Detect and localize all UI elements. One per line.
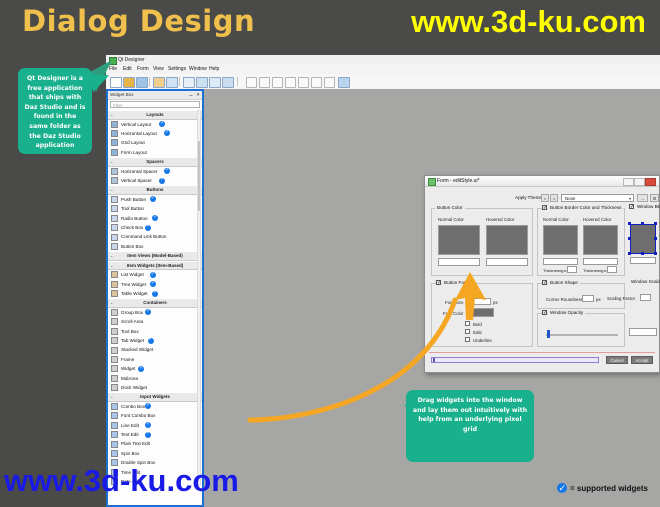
bold-label: Bold	[473, 322, 482, 328]
button-color-normal-label: Normal Color	[438, 217, 464, 223]
widget-type-icon	[111, 290, 118, 297]
widget-type-icon	[111, 347, 118, 354]
callout-drag-widgets: Drag widgets into the window and lay the…	[406, 390, 534, 462]
break-layout-icon[interactable]	[324, 77, 335, 88]
widget-list-item[interactable]: Plain Text Edit	[108, 439, 202, 448]
save-form-icon[interactable]	[136, 77, 148, 88]
underline-label: Underline	[473, 338, 492, 344]
cancel-button[interactable]: Cancel	[606, 356, 628, 364]
widget-group-label: Item Views (Model-Based)	[108, 252, 202, 260]
menu-edit[interactable]: Edit	[123, 66, 132, 73]
open-form-icon[interactable]	[123, 77, 135, 88]
widget-list-item-label: Frame	[121, 355, 134, 364]
button-shape-title: Button Shape	[548, 279, 580, 287]
theme-import-button[interactable]: ↔	[637, 194, 648, 202]
selection-handle-bl[interactable]	[628, 252, 631, 255]
supported-check-icon	[148, 338, 154, 344]
widget-list-item[interactable]: Form Layout	[108, 148, 202, 157]
minimize-button[interactable]	[623, 178, 634, 186]
widget-list-item[interactable]: MdiArea	[108, 374, 202, 383]
window-bkg-title: Window Bkg Color	[635, 203, 660, 211]
widget-type-icon	[111, 243, 118, 250]
button-color-group: Button Color Normal Color Hovered Color	[431, 208, 533, 276]
selection-handle-tl[interactable]	[628, 222, 631, 225]
widget-type-icon	[111, 196, 118, 203]
widget-list-item-label: Tool Button	[121, 204, 144, 213]
layout-splitter-h-icon[interactable]	[272, 77, 283, 88]
supported-check-icon	[152, 215, 158, 221]
supported-check-icon	[150, 196, 156, 202]
widget-list-item[interactable]: Frame	[108, 355, 202, 364]
maximize-button[interactable]	[634, 178, 645, 186]
menu-settings[interactable]: Settings	[168, 66, 186, 73]
window-opacity-group: Window Opacity	[537, 313, 625, 347]
widget-list-item-label: Scroll Area	[121, 317, 143, 326]
qt-designer-toolbar	[106, 74, 660, 90]
underline-checkbox[interactable]	[465, 337, 470, 342]
widget-box-scrollbar[interactable]	[197, 110, 201, 486]
selection-handle-tc[interactable]	[641, 222, 644, 225]
widget-list-item-label: Horizontal Spacer	[121, 167, 158, 176]
edit-signals-icon[interactable]	[196, 77, 208, 88]
toolbar-separator-3	[237, 77, 238, 86]
button-color-hovered-label: Hovered Color	[486, 217, 514, 223]
layout-grid-icon[interactable]	[298, 77, 309, 88]
page-banner: Dialog Design www.3d-ku.com	[0, 0, 660, 48]
widget-group-header[interactable]: ⌄Input Widgets	[108, 392, 202, 402]
widget-group-label: Layouts	[108, 111, 202, 119]
toolbar-separator-2	[179, 77, 180, 86]
button-shape-checkbox[interactable]	[542, 280, 547, 285]
widget-box-filter-input[interactable]: Filter	[110, 101, 200, 108]
check-circle-icon	[557, 483, 567, 493]
widget-group-header[interactable]: ⌄Item Widgets (Item-Based)	[108, 261, 202, 271]
window-opacity-title: Window Opacity	[548, 309, 585, 317]
widget-list-item-label: Grid Layout	[121, 138, 145, 147]
legend-text: = supported widgets	[570, 484, 648, 493]
widget-type-icon	[111, 139, 118, 146]
widget-group-label: Input Widgets	[108, 393, 202, 401]
apply-theme-label: Apply Theme	[515, 193, 542, 203]
button-normal-color-swatch[interactable]	[438, 225, 480, 255]
bottom-website-watermark: www.3d-ku.com	[4, 463, 239, 499]
widget-type-icon	[111, 168, 118, 175]
supported-check-icon	[145, 309, 151, 315]
theme-combo-box[interactable]: None ▾	[561, 194, 634, 202]
undo-icon[interactable]	[153, 77, 165, 88]
bottom-scrollbar-handle[interactable]	[433, 358, 435, 362]
font-color-swatch[interactable]	[469, 308, 494, 317]
legend: = supported widgets	[557, 483, 648, 493]
widget-type-icon	[111, 130, 118, 137]
widget-list-item-label: Table Widget	[121, 289, 148, 298]
theme-combo-value: None	[565, 195, 576, 203]
supported-check-icon	[150, 281, 156, 287]
widget-list-item-label: Tool Box	[121, 327, 139, 336]
bold-checkbox[interactable]	[465, 321, 470, 326]
border-hovered-label: Hovered Color	[583, 217, 611, 223]
supported-check-icon	[164, 130, 170, 136]
layout-vertical-icon[interactable]	[259, 77, 270, 88]
widget-list-item-label: Horizontal Layout	[121, 129, 157, 138]
window-opacity-checkbox[interactable]	[542, 310, 547, 315]
bottom-scrollbar[interactable]	[431, 357, 599, 363]
widget-group-label: Item Widgets (Item-Based)	[108, 262, 202, 270]
corner-roundness-input[interactable]	[582, 295, 594, 302]
callout-drag-widgets-text: Drag widgets into the window and lay the…	[406, 390, 534, 440]
widget-group-header[interactable]: ⌄Spacers	[108, 157, 202, 167]
border-normal-color-swatch[interactable]	[543, 225, 578, 255]
widget-list-item[interactable]: Text Edit	[108, 430, 202, 439]
widget-type-icon	[111, 412, 118, 419]
button-font-group: Button Font Font Size px Font Color Bold…	[431, 283, 533, 347]
selection-handle-ml[interactable]	[628, 237, 631, 240]
widget-group-label: Buttons	[108, 186, 202, 194]
widget-list-item[interactable]: Group Box	[108, 308, 202, 317]
widget-type-icon	[111, 281, 118, 288]
layout-splitter-v-icon[interactable]	[285, 77, 296, 88]
font-size-combo[interactable]	[469, 298, 491, 305]
layout-horizontal-icon[interactable]	[246, 77, 257, 88]
widget-type-icon	[111, 318, 118, 325]
widget-list-item-label: Spin Box	[121, 449, 139, 458]
widget-list-item[interactable]: Scroll Area	[108, 317, 202, 326]
widget-type-icon	[111, 205, 118, 212]
adjust-size-icon[interactable]	[338, 77, 350, 88]
menu-help[interactable]: Help	[209, 66, 219, 73]
widget-list-item[interactable]: Spin Box	[108, 449, 202, 458]
supported-check-icon	[145, 403, 151, 409]
button-color-title: Button Color	[435, 204, 465, 212]
thickness-label-1: Thickness(px)	[543, 268, 568, 274]
widget-list-item[interactable]: Font Combo Box	[108, 411, 202, 420]
widget-group-header[interactable]: ⌄Containers	[108, 298, 202, 308]
form-dialog-titlebar: Form - editStyle.ui*	[425, 176, 659, 187]
layout-form-icon[interactable]	[311, 77, 322, 88]
selection-handle-bc[interactable]	[641, 252, 644, 255]
widget-list-item-label: Line Edit	[121, 421, 139, 430]
form-divider	[429, 352, 655, 353]
close-button[interactable]	[645, 178, 656, 186]
widget-list-item-label: Button Box	[121, 242, 143, 251]
widget-list-item[interactable]: Button Box	[108, 242, 202, 251]
widget-type-icon	[111, 441, 118, 448]
widget-type-icon	[111, 431, 118, 438]
pin-icon[interactable]: ⚊	[189, 91, 193, 99]
border-normal-color-input[interactable]	[543, 258, 578, 265]
widget-list-item-label: Command Link Button	[121, 232, 166, 241]
widget-list-item-label: Form Layout	[121, 148, 147, 157]
thickness-label-2: Thickness(px)	[583, 268, 608, 274]
form-dialog-title: Form - editStyle.ui*	[437, 176, 480, 186]
selection-handle-mr[interactable]	[654, 237, 657, 240]
window-bkg-checkbox[interactable]	[629, 204, 634, 209]
widget-type-icon	[111, 271, 118, 278]
widget-list-item[interactable]: Combo Box	[108, 402, 202, 411]
widget-list-item-label: Vertical Spacer	[121, 176, 152, 185]
widget-list-item[interactable]: Command Link Button	[108, 232, 202, 241]
form-dialog-bottom-bar: Cancel Accept	[429, 354, 655, 366]
widget-box-list[interactable]: ⌄LayoutsVertical LayoutHorizontal Layout…	[108, 110, 202, 486]
window-scaling-title: Window Scaling	[629, 278, 660, 286]
widget-list-item[interactable]: Grid Layout	[108, 138, 202, 147]
widget-list-item-label: Check Box	[121, 223, 143, 232]
window-bkg-color-swatch[interactable]	[630, 224, 656, 254]
font-size-unit: px	[493, 300, 498, 306]
thickness-input-1[interactable]	[567, 266, 577, 273]
button-font-checkbox[interactable]	[436, 280, 441, 285]
widget-type-icon	[111, 328, 118, 335]
widget-list-item-label: MdiArea	[121, 374, 138, 383]
callout-qt-designer-info-text: Qt Designer is a free application that s…	[18, 68, 92, 157]
widget-type-icon	[111, 337, 118, 344]
form-dialog-body: Apply Theme < > None ▾ ↔ ☰ Button Color …	[429, 189, 655, 368]
widget-list-item-label: Stacked Widget	[121, 345, 153, 354]
widget-type-icon	[111, 403, 118, 410]
window-opacity-slider[interactable]	[546, 334, 618, 336]
button-border-title: Button Border Color and Thickness	[548, 204, 623, 212]
edit-tab-order-icon[interactable]	[222, 77, 234, 88]
widget-list-item-label: Vertical Layout	[121, 120, 151, 129]
form-window-icon	[428, 178, 436, 186]
supported-check-icon	[145, 422, 151, 428]
widget-list-item-label: Dock Widget	[121, 383, 147, 392]
supported-check-icon	[159, 121, 165, 127]
supported-check-icon	[159, 178, 165, 184]
widget-type-icon	[111, 215, 118, 222]
qt-designer-window: Qt Designer File Edit Form View Settings…	[106, 55, 660, 507]
page-title: Dialog Design	[22, 4, 255, 38]
accept-button[interactable]: Accept	[631, 356, 653, 364]
widget-list-item[interactable]: Tab Widget	[108, 336, 202, 345]
window-opacity-value-input[interactable]	[629, 328, 657, 336]
theme-prev-button[interactable]: <	[541, 194, 549, 202]
widget-list-item[interactable]: Widget	[108, 364, 202, 373]
qt-logo-icon	[109, 57, 117, 65]
widget-group-header[interactable]: ⌄Buttons	[108, 185, 202, 195]
widget-group-label: Spacers	[108, 158, 202, 166]
widget-list-item[interactable]: Tool Box	[108, 327, 202, 336]
banner-website-watermark: www.3d-ku.com	[411, 4, 646, 40]
window-bkg-group: Window Bkg Color	[629, 208, 657, 276]
widget-list-item-label: Text Edit	[121, 430, 139, 439]
button-border-checkbox[interactable]	[542, 205, 547, 210]
widget-list-item[interactable]: List Widget	[108, 270, 202, 279]
widget-list-item-label: Tab Widget	[121, 336, 144, 345]
widget-type-icon	[111, 149, 118, 156]
apply-theme-row: Apply Theme < > None ▾ ↔ ☰	[429, 193, 655, 203]
supported-check-icon	[145, 432, 151, 438]
widget-type-icon	[111, 365, 118, 372]
widget-type-icon	[111, 356, 118, 363]
selection-handle-br[interactable]	[654, 252, 657, 255]
window-scaling-group: Window Scaling Scaling Factor	[629, 283, 657, 309]
selection-handle-tr[interactable]	[654, 222, 657, 225]
button-normal-color-input[interactable]	[438, 258, 480, 266]
qt-designer-window-title: Qt Designer	[118, 56, 145, 64]
widget-list-item-label: Combo Box	[121, 402, 145, 411]
redo-icon[interactable]	[166, 77, 178, 88]
widget-list-item[interactable]: Horizontal Layout	[108, 129, 202, 138]
edit-buddies-icon[interactable]	[209, 77, 221, 88]
menu-form[interactable]: Form	[137, 66, 149, 73]
corner-roundness-unit: px	[596, 297, 601, 303]
widget-group-header[interactable]: ⌄Layouts	[108, 110, 202, 120]
callout-qt-designer-info: Qt Designer is a free application that s…	[18, 68, 92, 154]
chevron-down-icon: ▾	[629, 195, 631, 203]
close-icon[interactable]: ✕	[196, 91, 200, 99]
widget-list-item-label: Font Combo Box	[121, 411, 155, 420]
supported-check-icon	[150, 272, 156, 278]
widget-type-icon	[111, 121, 118, 128]
supported-check-icon	[164, 168, 170, 174]
widget-box-filter-placeholder: Filter	[113, 102, 122, 109]
widget-list-item[interactable]: Vertical Layout	[108, 120, 202, 129]
widget-type-icon	[111, 422, 118, 429]
widget-list-item[interactable]: Table Widget	[108, 289, 202, 298]
widget-box-panel: Widget Box ⚊ ✕ Filter ⌄LayoutsVertical L…	[106, 89, 204, 507]
widget-list-item[interactable]: Push Button	[108, 195, 202, 204]
widget-list-item[interactable]: Tool Button	[108, 204, 202, 213]
widget-list-item[interactable]: Line Edit	[108, 421, 202, 430]
theme-menu-button[interactable]: ☰	[650, 194, 659, 202]
widget-list-item-label: Plain Text Edit	[121, 439, 150, 448]
font-color-label: Font Color	[443, 311, 464, 317]
border-normal-label: Normal Color	[543, 217, 569, 223]
supported-check-icon	[138, 366, 144, 372]
widget-group-label: Containers	[108, 299, 202, 307]
italic-checkbox[interactable]	[465, 329, 470, 334]
form-design-dialog[interactable]: Form - editStyle.ui* Apply Theme < > Non…	[424, 175, 660, 373]
supported-check-icon	[152, 291, 158, 297]
italic-label: Italic	[473, 330, 482, 336]
widget-type-icon	[111, 234, 118, 241]
widget-list-item-label: List Widget	[121, 270, 144, 279]
widget-list-item[interactable]: Check Box	[108, 223, 202, 232]
widget-box-titlebar: Widget Box ⚊ ✕	[108, 91, 202, 100]
corner-roundness-label: Corner Roundness	[546, 297, 583, 303]
button-border-group: Button Border Color and Thickness Normal…	[537, 208, 625, 276]
scaling-factor-label: Scaling Factor	[607, 296, 635, 302]
widget-list-item[interactable]: Stacked Widget	[108, 345, 202, 354]
widget-group-header[interactable]: ⌄Item Views (Model-Based)	[108, 251, 202, 261]
window-bkg-color-input[interactable]	[630, 257, 656, 264]
widget-box-scrollbar-thumb[interactable]	[198, 141, 200, 211]
supported-check-icon	[145, 225, 151, 231]
thickness-input-2[interactable]	[607, 266, 617, 273]
widget-type-icon	[111, 384, 118, 391]
widget-list-item-label: Radio Button	[121, 214, 148, 223]
widget-type-icon	[111, 309, 118, 316]
widget-list-item-label: Group Box	[121, 308, 143, 317]
scaling-factor-input[interactable]	[640, 294, 651, 301]
theme-next-button[interactable]: >	[550, 194, 558, 202]
button-font-title: Button Font	[442, 279, 470, 287]
widget-list-item[interactable]: Radio Button	[108, 214, 202, 223]
widget-box-title: Widget Box	[110, 91, 134, 99]
menu-file[interactable]: File	[109, 66, 117, 73]
border-hovered-color-swatch[interactable]	[583, 225, 618, 255]
menu-view[interactable]: View	[153, 66, 164, 73]
widget-list-item-label: Tree Widget	[121, 280, 146, 289]
edit-widgets-icon[interactable]	[183, 77, 195, 88]
widget-list-item[interactable]: Tree Widget	[108, 280, 202, 289]
widget-type-icon	[111, 450, 118, 457]
toolbar-separator-1	[149, 77, 150, 86]
widget-type-icon	[111, 375, 118, 382]
window-opacity-slider-handle[interactable]	[547, 330, 550, 338]
button-hovered-color-swatch[interactable]	[486, 225, 528, 255]
menu-window[interactable]: Window	[189, 66, 207, 73]
button-hovered-color-input[interactable]	[486, 258, 528, 266]
widget-list-item[interactable]: Vertical Spacer	[108, 176, 202, 185]
widget-list-item-label: Widget	[121, 364, 135, 373]
widget-type-icon	[111, 177, 118, 184]
widget-list-item[interactable]: Horizontal Spacer	[108, 167, 202, 176]
border-hovered-color-input[interactable]	[583, 258, 618, 265]
widget-list-item[interactable]: Dock Widget	[108, 383, 202, 392]
widget-list-item-label: Push Button	[121, 195, 146, 204]
font-size-label: Font Size	[445, 300, 464, 306]
widget-type-icon	[111, 224, 118, 231]
